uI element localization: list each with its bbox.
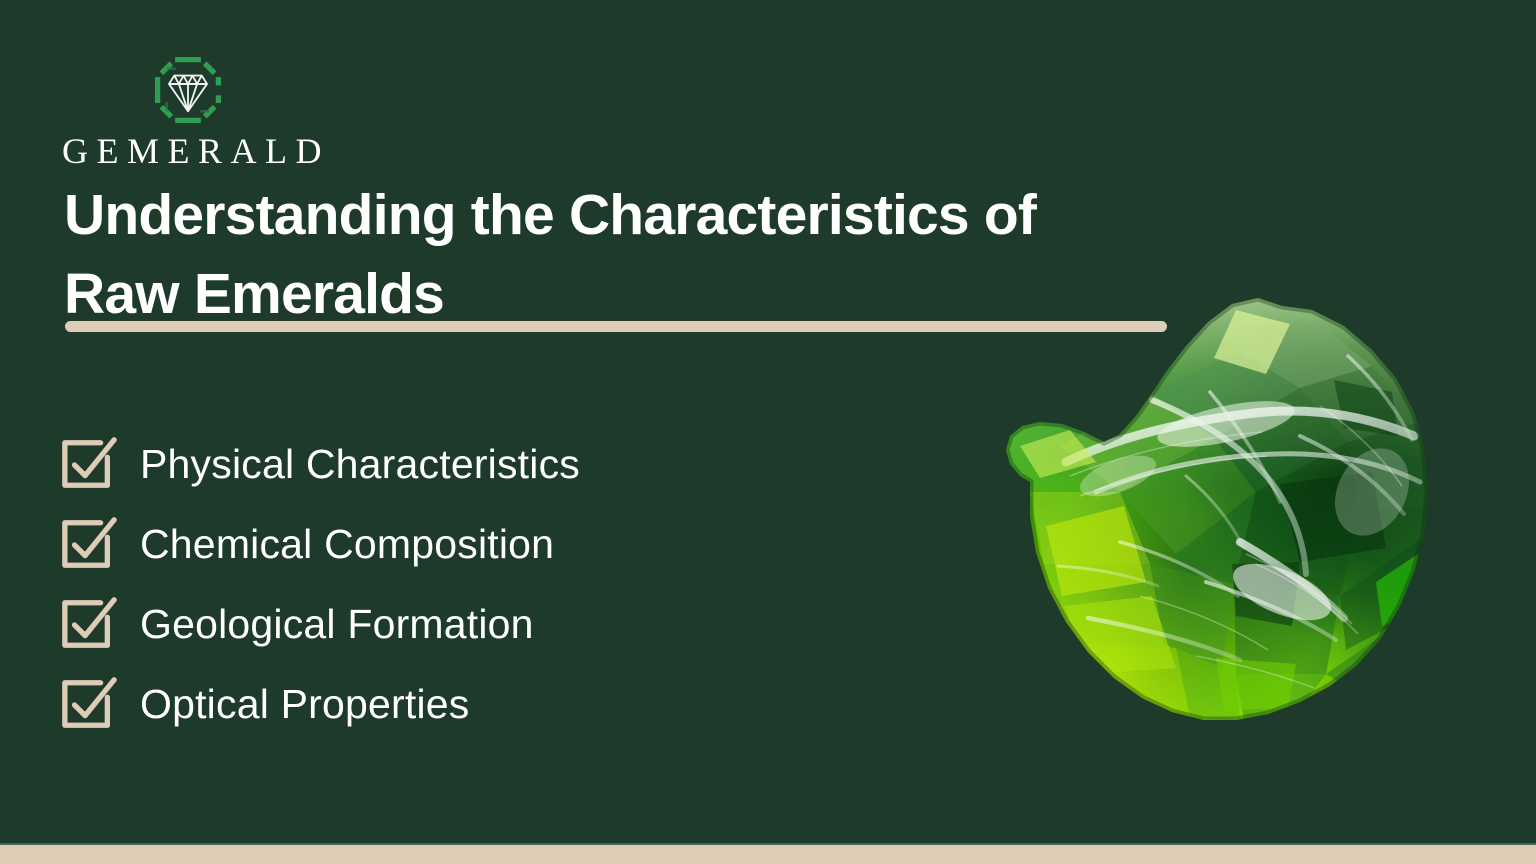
bottom-accent-bar — [0, 845, 1536, 864]
list-item: Geological Formation — [58, 584, 818, 664]
list-item-label: Optical Properties — [140, 684, 469, 725]
list-item-label: Chemical Composition — [140, 524, 554, 565]
list-item-label: Geological Formation — [140, 604, 534, 645]
checkbox-checked-icon — [58, 436, 120, 492]
checkbox-checked-icon — [58, 596, 120, 652]
checkbox-checked-icon — [58, 676, 120, 732]
brand-lockup[interactable]: GEMERALD — [62, 52, 312, 171]
list-item: Chemical Composition — [58, 504, 818, 584]
list-item-label: Physical Characteristics — [140, 444, 580, 485]
raw-emerald-stone — [1000, 296, 1478, 774]
checkbox-checked-icon — [58, 516, 120, 572]
feature-checklist: Physical Characteristics Chemical Compos… — [58, 424, 818, 744]
stone-body — [1000, 296, 1478, 774]
page-title-line-1: Understanding the Characteristics of — [64, 176, 1174, 255]
list-item: Physical Characteristics — [58, 424, 818, 504]
brand-wordmark: GEMERALD — [62, 132, 312, 171]
slide-canvas: GEMERALD Understanding the Characteristi… — [0, 0, 1536, 864]
emerald-cut-gem-icon — [150, 52, 226, 128]
list-item: Optical Properties — [58, 664, 818, 744]
